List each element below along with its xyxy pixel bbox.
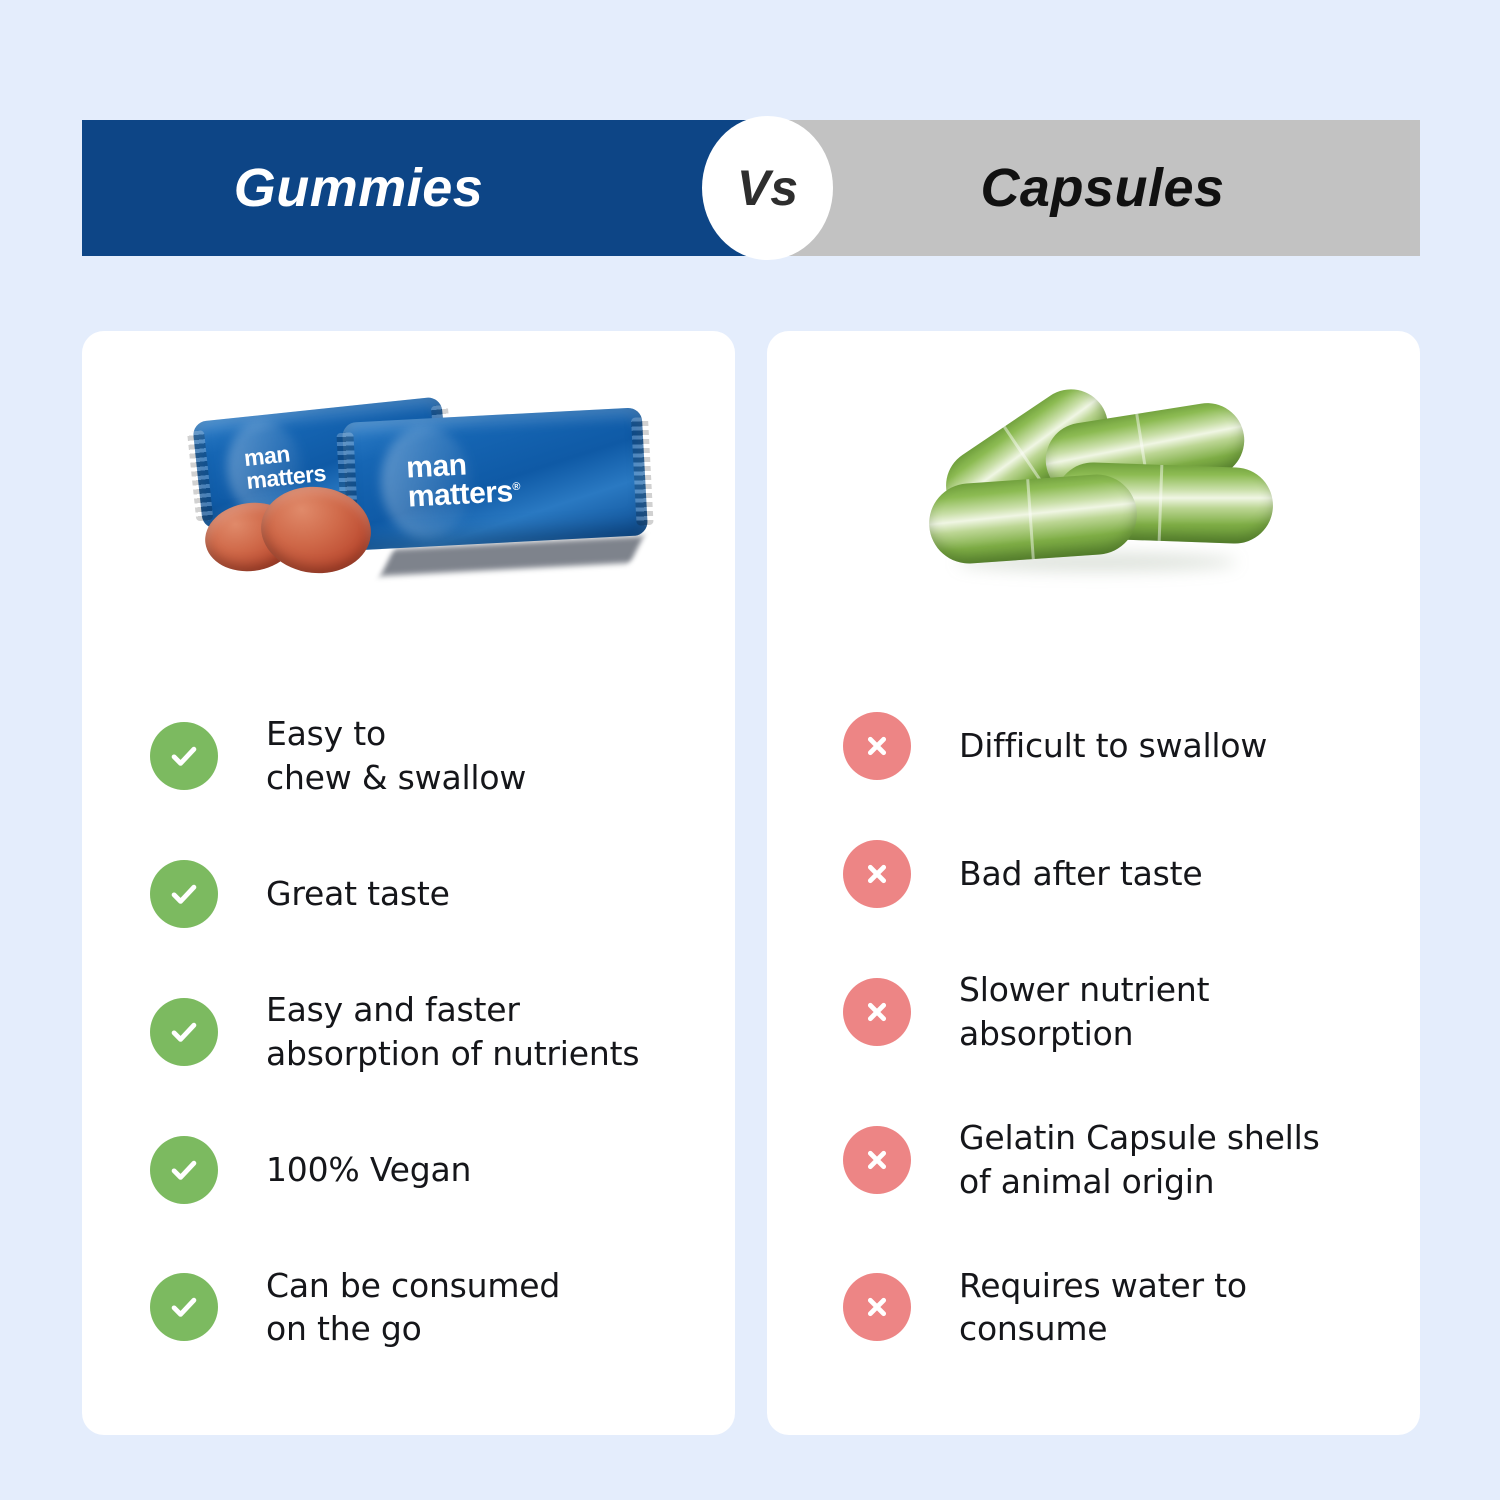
gummy-sachet-front: man matters® <box>342 407 648 551</box>
list-item-label: Gelatin Capsule shells of animal origin <box>959 1116 1320 1204</box>
list-item: Difficult to swallow <box>843 712 1420 780</box>
cross-icon <box>843 712 911 780</box>
header-capsules-label: Capsules <box>980 157 1224 219</box>
registered-mark: ® <box>512 481 520 493</box>
list-item-label: 100% Vegan <box>266 1148 471 1192</box>
sachet-crimp-left <box>187 430 213 522</box>
capsules-card: Difficult to swallow Bad after taste Slo… <box>767 331 1420 1435</box>
list-item-label: Requires water to consume <box>959 1264 1247 1352</box>
capsule-4 <box>926 472 1139 566</box>
header-capsules-panel: Capsules <box>755 120 1420 256</box>
list-item-label: Bad after taste <box>959 852 1202 896</box>
check-icon <box>150 860 218 928</box>
check-icon <box>150 1136 218 1204</box>
check-icon <box>150 722 218 790</box>
comparison-header-bar: Gummies Capsules Vs <box>82 120 1420 256</box>
list-item: Gelatin Capsule shells of animal origin <box>843 1116 1420 1204</box>
list-item: 100% Vegan <box>150 1136 735 1204</box>
list-item: Can be consumed on the go <box>150 1264 735 1352</box>
gummies-card: man matters man matters® <box>82 331 735 1435</box>
gummies-product-art: man matters man matters® <box>82 331 735 661</box>
cross-icon <box>843 978 911 1046</box>
brand-line2: matters <box>407 476 513 514</box>
capsules-product-photo <box>917 403 1317 603</box>
gummies-feature-list: Easy to chew & swallow Great taste Easy … <box>82 712 735 1351</box>
check-icon <box>150 1273 218 1341</box>
list-item-label: Great taste <box>266 872 450 916</box>
list-item: Requires water to consume <box>843 1264 1420 1352</box>
list-item: Great taste <box>150 860 735 928</box>
cross-icon <box>843 840 911 908</box>
capsules-product-art <box>767 331 1420 661</box>
vs-badge: Vs <box>702 116 833 260</box>
comparison-cards: man matters man matters® <box>82 331 1420 1435</box>
vs-label: Vs <box>737 159 798 217</box>
list-item-label: Difficult to swallow <box>959 724 1267 768</box>
list-item: Bad after taste <box>843 840 1420 908</box>
header-gummies-label: Gummies <box>234 157 484 219</box>
cross-icon <box>843 1273 911 1341</box>
list-item: Easy to chew & swallow <box>150 712 735 800</box>
header-gummies-panel: Gummies <box>82 120 755 256</box>
sachet-crimp-right <box>631 417 654 525</box>
sachet-brand-front: man matters® <box>406 448 521 513</box>
capsules-feature-list: Difficult to swallow Bad after taste Slo… <box>767 712 1420 1351</box>
list-item-label: Easy to chew & swallow <box>266 712 526 800</box>
sachet-brand-back: man matters <box>243 438 333 492</box>
gummies-product-photo: man matters man matters® <box>187 391 617 611</box>
list-item-label: Slower nutrient absorption <box>959 968 1209 1056</box>
list-item-label: Can be consumed on the go <box>266 1264 560 1352</box>
check-icon <box>150 998 218 1066</box>
cross-icon <box>843 1126 911 1194</box>
list-item-label: Easy and faster absorption of nutrients <box>266 988 639 1076</box>
list-item: Slower nutrient absorption <box>843 968 1420 1056</box>
list-item: Easy and faster absorption of nutrients <box>150 988 735 1076</box>
